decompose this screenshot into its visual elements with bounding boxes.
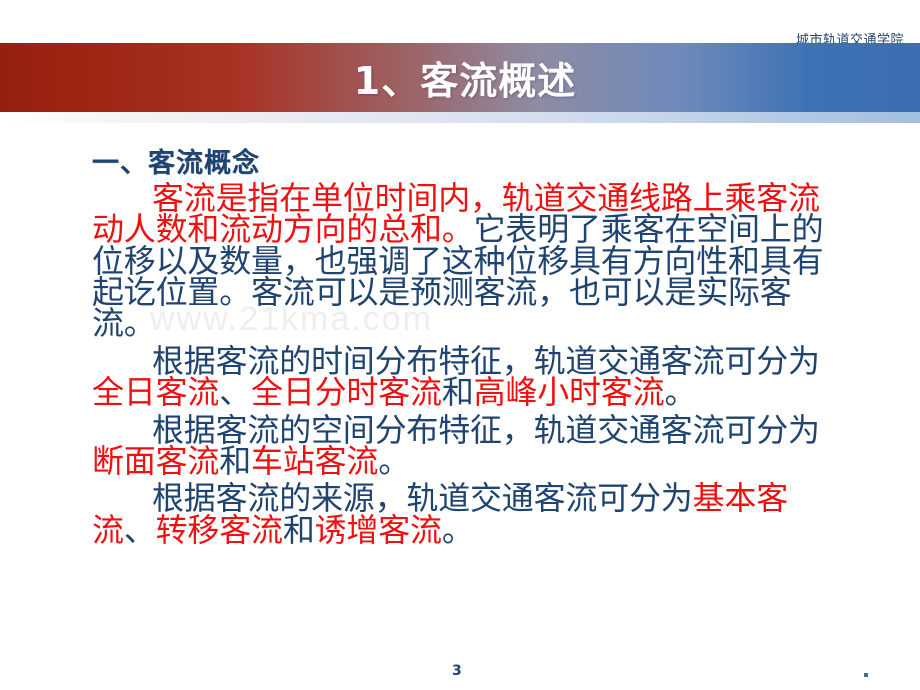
text-run-red: 断面客流: [92, 442, 219, 480]
text-run-blue: 。: [442, 511, 474, 549]
text-run-blue: 和: [283, 511, 315, 549]
text-run-blue: 。: [378, 442, 410, 480]
text-run-red: 高峰小时客流: [474, 373, 665, 411]
title-banner-underglow: [0, 112, 920, 123]
text-run-blue: 和: [219, 442, 251, 480]
text-run-red: 诱增客流: [315, 511, 442, 549]
presentation-slide: 城市轨道交通学院 1、客流概述 www.21kma.com 一、客流概念 客流是…: [0, 0, 920, 690]
text-run-blue: 、: [219, 373, 251, 411]
text-run-red: 转移客流: [156, 511, 283, 549]
footer-dot-icon: [864, 673, 868, 677]
text-run-blue: 。: [664, 373, 696, 411]
text-run-blue: 、: [124, 511, 156, 549]
text-run-red: 车站客流: [251, 442, 378, 480]
slide-title: 1、客流概述: [0, 43, 920, 112]
text-run-red: 全日客流: [92, 373, 219, 411]
page-number: 3: [452, 663, 462, 679]
paragraph-time-distribution: 根据客流的时间分布特征，轨道交通客流可分为全日客流、全日分时客流和高峰小时客流。: [92, 346, 834, 409]
text-run-red: 全日分时客流: [251, 373, 442, 411]
slide-body: 一、客流概念 客流是指在单位时间内，轨道交通线路上乘客流动人数和流动方向的总和。…: [92, 148, 834, 546]
paragraph-space-distribution: 根据客流的空间分布特征，轨道交通客流可分为断面客流和车站客流。: [92, 415, 834, 478]
paragraph-source: 根据客流的来源，轨道交通客流可分为基本客流、转移客流和诱增客流。: [92, 483, 834, 546]
text-run-blue: 和: [442, 373, 474, 411]
paragraph-definition: 客流是指在单位时间内，轨道交通线路上乘客流动人数和流动方向的总和。它表明了乘客在…: [92, 183, 834, 340]
section-heading: 一、客流概念: [92, 148, 834, 179]
